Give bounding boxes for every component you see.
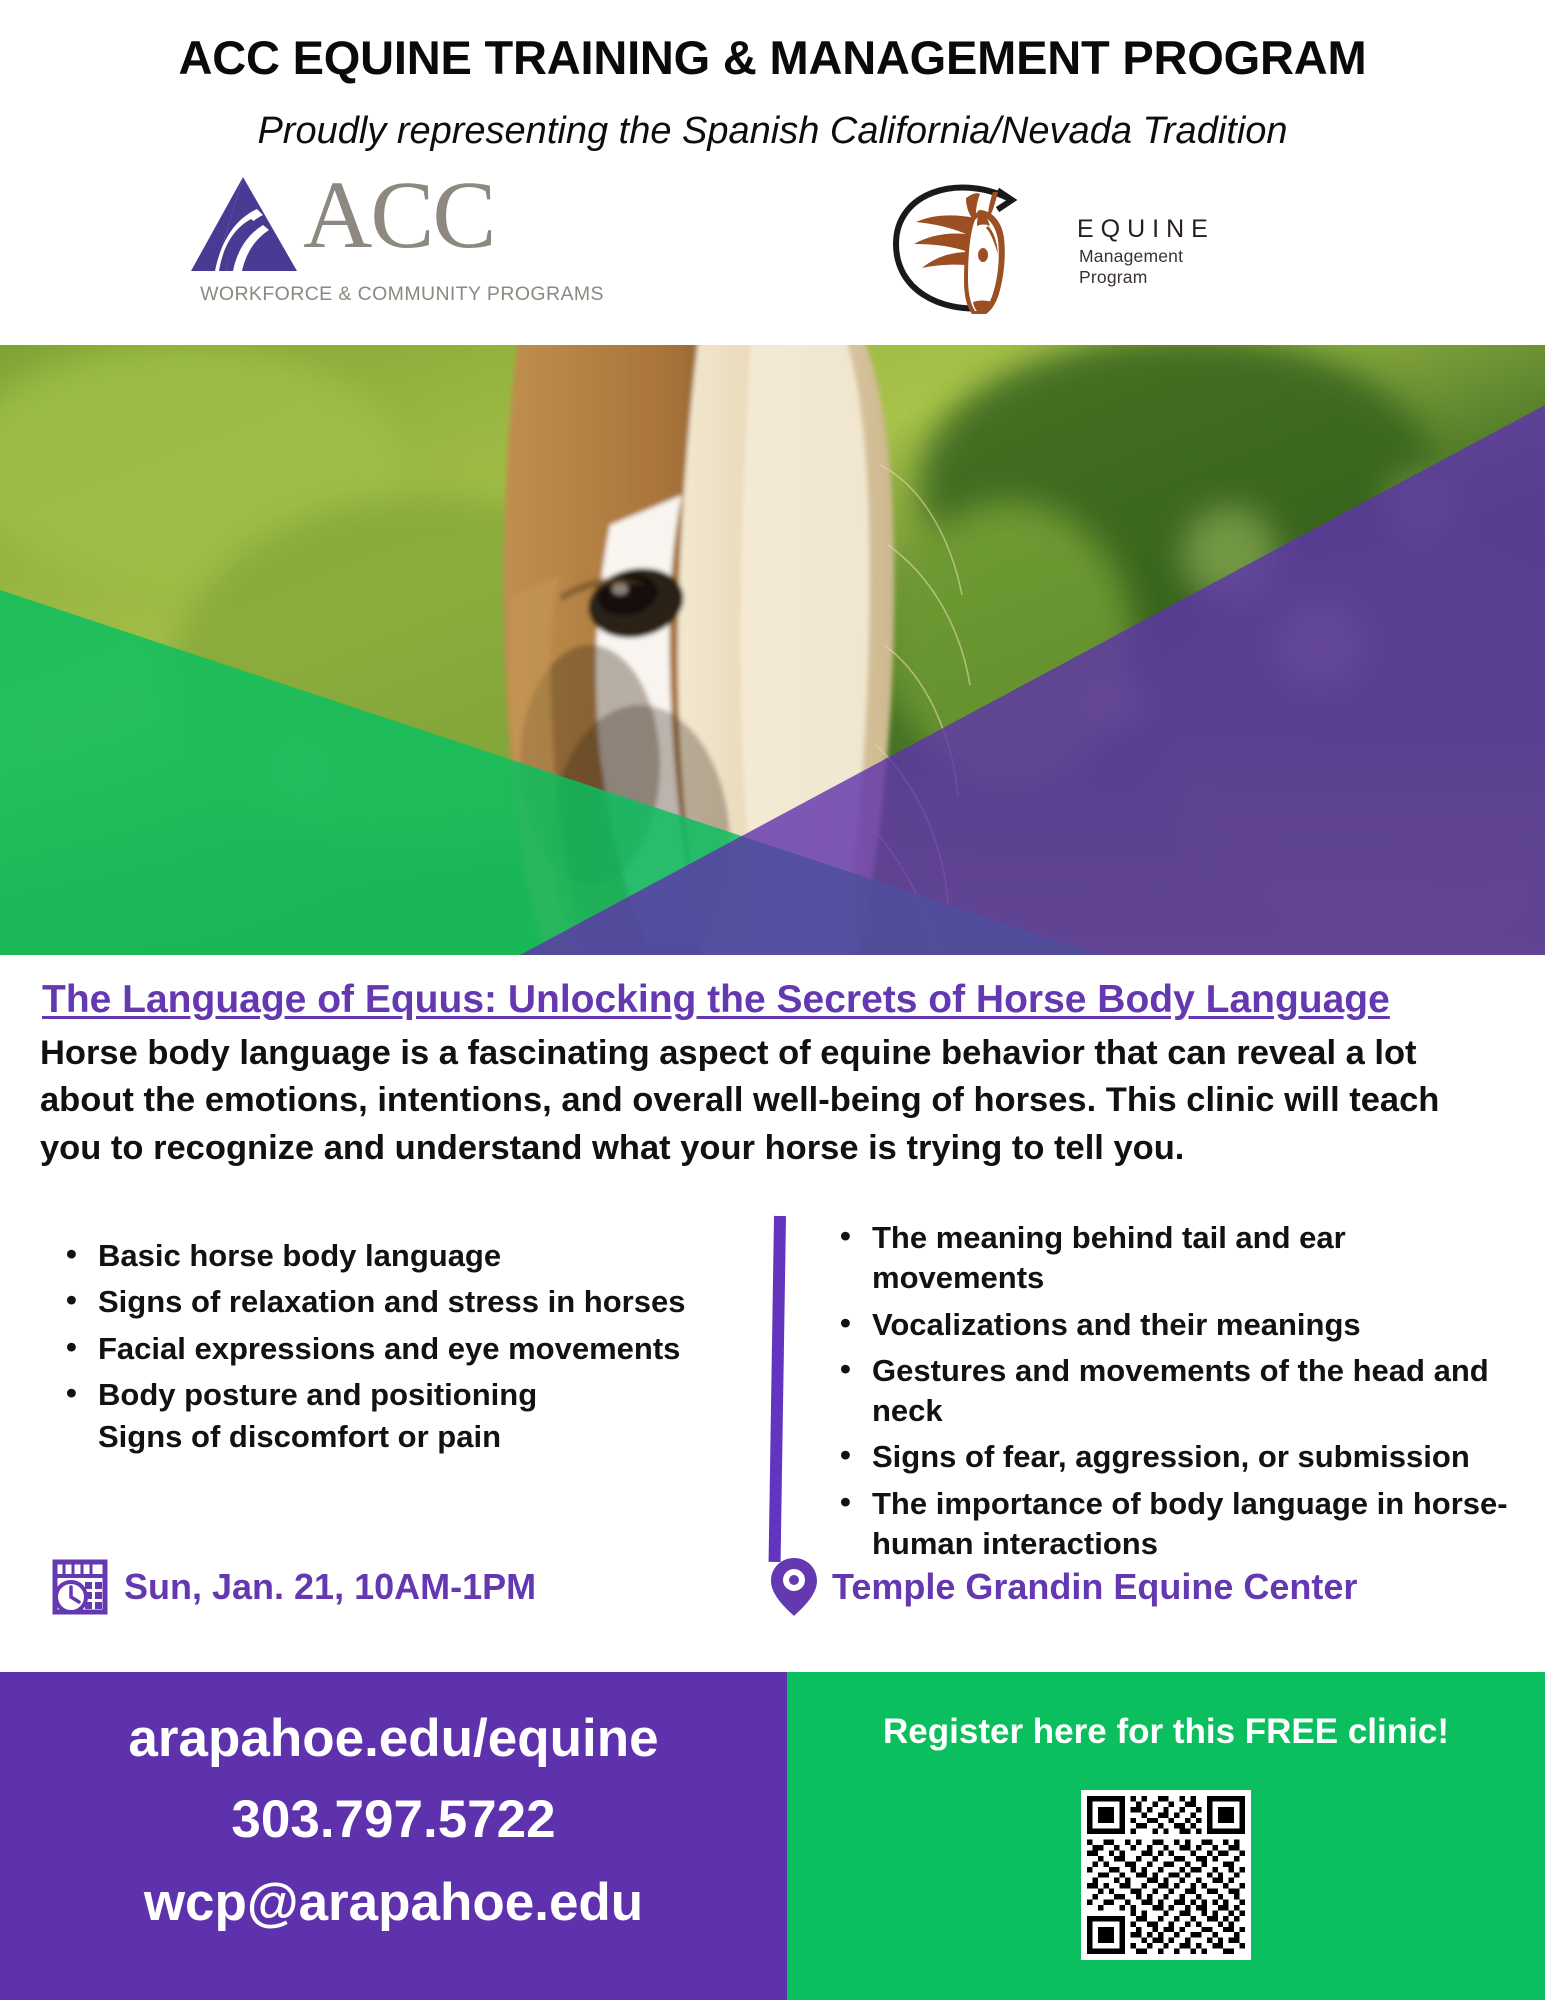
topics-right-list: The meaning behind tail and ear movement…: [826, 1218, 1526, 1564]
registration-panel: Register here for this FREE clinic!: [787, 1672, 1545, 2000]
flyer-page: ACC EQUINE TRAINING & MANAGEMENT PROGRAM…: [0, 0, 1545, 2000]
event-location-text: Temple Grandin Equine Center: [832, 1566, 1357, 1608]
contact-panel: arapahoe.edu/equine 303.797.5722 wcp@ara…: [0, 1672, 787, 2000]
equine-horse-ring-icon: [880, 170, 1080, 320]
list-item: Facial expressions and eye movements: [52, 1329, 742, 1369]
event-location-row: Temple Grandin Equine Center: [768, 1556, 1357, 1618]
logo-row: ACC WORKFORCE & COMMUNITY PROGRAMS: [0, 175, 1545, 335]
acc-wordmark: ACC: [303, 167, 494, 263]
column-divider: [769, 1216, 786, 1562]
calendar-clock-icon: [52, 1558, 108, 1616]
list-item: Body posture and positioning: [52, 1375, 742, 1415]
page-subtitle: Proudly representing the Spanish Califor…: [0, 110, 1545, 153]
list-item: The importance of body language in horse…: [826, 1484, 1526, 1565]
equine-sub-wordmark: Management Program: [1079, 246, 1240, 288]
website-text[interactable]: arapahoe.edu/equine: [0, 1708, 787, 1769]
topics-left-column: Basic horse body language Signs of relax…: [52, 1236, 742, 1463]
register-call-to-action: Register here for this FREE clinic!: [787, 1712, 1545, 1752]
list-item: The meaning behind tail and ear movement…: [826, 1218, 1526, 1299]
map-pin-icon: [768, 1556, 820, 1618]
list-item: Signs of relaxation and stress in horses: [52, 1282, 742, 1322]
list-item: Signs of fear, aggression, or submission: [826, 1437, 1526, 1477]
topics-left-list: Basic horse body language Signs of relax…: [52, 1236, 742, 1457]
email-text[interactable]: wcp@arapahoe.edu: [0, 1872, 787, 1933]
acc-tagline: WORKFORCE & COMMUNITY PROGRAMS: [187, 283, 617, 306]
acc-logo: ACC WORKFORCE & COMMUNITY PROGRAMS: [185, 175, 615, 315]
acc-mountain-icon: [185, 175, 305, 275]
flyer-footer: arapahoe.edu/equine 303.797.5722 wcp@ara…: [0, 1672, 1545, 2000]
hero-photo-illustration: [0, 345, 1545, 955]
phone-text[interactable]: 303.797.5722: [0, 1789, 787, 1850]
topics-right-column: The meaning behind tail and ear movement…: [826, 1218, 1526, 1570]
registration-qr-code[interactable]: [1081, 1790, 1251, 1960]
list-item: Vocalizations and their meanings: [826, 1305, 1526, 1345]
equine-wordmark: EQUINE: [1077, 215, 1215, 244]
clinic-description: Horse body language is a fascinating asp…: [40, 1030, 1495, 1172]
list-item: Gestures and movements of the head and n…: [826, 1351, 1526, 1432]
page-title: ACC EQUINE TRAINING & MANAGEMENT PROGRAM: [0, 30, 1545, 85]
list-item: Basic horse body language: [52, 1236, 742, 1276]
list-item-continuation: Signs of discomfort or pain: [52, 1417, 742, 1457]
event-date-text: Sun, Jan. 21, 10AM-1PM: [124, 1566, 536, 1608]
flyer-header: ACC EQUINE TRAINING & MANAGEMENT PROGRAM…: [0, 0, 1545, 345]
hero-photo: [0, 345, 1545, 955]
clinic-headline: The Language of Equus: Unlocking the Sec…: [42, 978, 1512, 1022]
equine-logo: EQUINE Management Program: [880, 170, 1240, 320]
event-date-row: Sun, Jan. 21, 10AM-1PM: [52, 1558, 536, 1616]
qr-code-graphic: [1087, 1796, 1245, 1954]
